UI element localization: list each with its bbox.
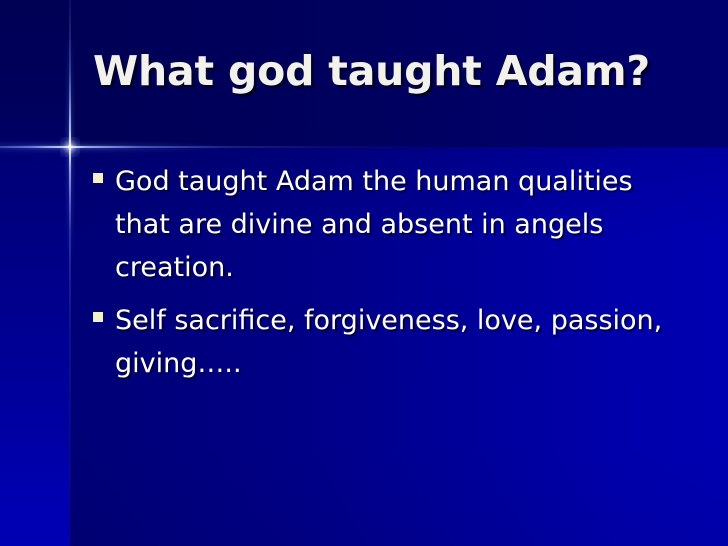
starburst-vertical-ray-icon	[69, 0, 71, 546]
slide-background-left-column-top	[0, 0, 70, 147]
list-item-label: Self sacrifice, forgiveness, love, passi…	[115, 299, 694, 385]
starburst-center-icon	[60, 137, 80, 157]
slide-title: What god taught Adam?	[93, 47, 693, 95]
slide-body-content: God taught Adam the human qualities that…	[88, 160, 694, 395]
list-item-label: God taught Adam the human qualities that…	[115, 160, 694, 289]
list-item: God taught Adam the human qualities that…	[88, 160, 694, 289]
square-bullet-icon	[93, 173, 103, 183]
slide-background-left-column	[0, 147, 70, 546]
square-bullet-icon	[93, 312, 103, 322]
slide-canvas: What god taught Adam? God taught Adam th…	[0, 0, 728, 546]
list-item: Self sacrifice, forgiveness, love, passi…	[88, 299, 694, 385]
